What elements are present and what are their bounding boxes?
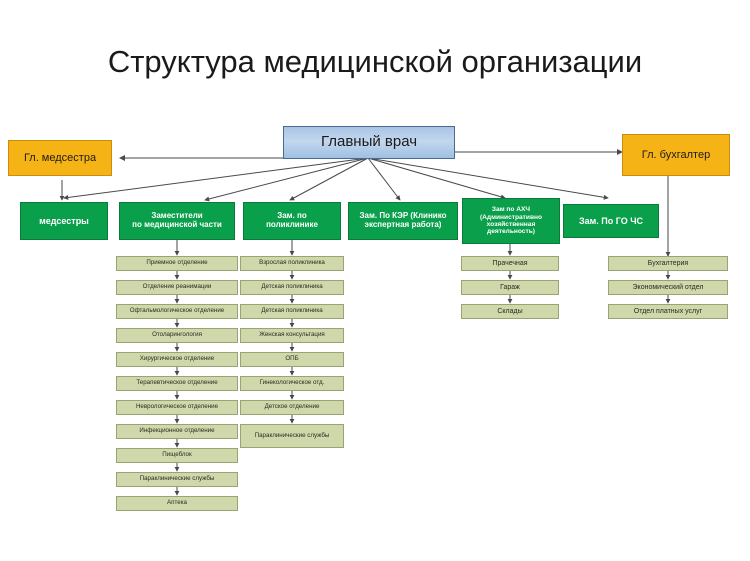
node-label: медсестры: [39, 216, 89, 226]
node-label: Детская поликлиника: [261, 308, 322, 315]
node-label: Главный врач: [321, 134, 417, 151]
node-label: ОПБ: [285, 356, 298, 363]
node-label: Хирургическое отделение: [140, 356, 214, 363]
node-label-line2: поликлинике: [266, 221, 318, 230]
leaf-accounting-3[interactable]: Отдел платных услуг: [608, 304, 728, 319]
node-chief-accountant[interactable]: Гл. бухгалтер: [622, 134, 730, 176]
node-label-line2: по медицинской части: [132, 221, 222, 230]
leaf-polyclinic-8[interactable]: Параклинические службы: [240, 424, 344, 448]
leaf-medical-4[interactable]: Отоларингология: [116, 328, 238, 343]
node-label: Бухгалтерия: [648, 260, 688, 268]
leaf-polyclinic-4[interactable]: Женская консультация: [240, 328, 344, 343]
node-label: Взрослая поликлиника: [259, 260, 325, 267]
leaf-polyclinic-7[interactable]: Детское отделение: [240, 400, 344, 415]
leaf-polyclinic-2[interactable]: Детская поликлиника: [240, 280, 344, 295]
leaf-medical-8[interactable]: Инфекционное отделение: [116, 424, 238, 439]
leaf-ahch-3[interactable]: Склады: [461, 304, 559, 319]
node-head-ker[interactable]: Зам. По КЭР (Клинико экспертная работа): [348, 202, 458, 240]
leaf-polyclinic-3[interactable]: Детская поликлиника: [240, 304, 344, 319]
node-label: Параклинические службы: [140, 476, 215, 483]
node-label-line4: деятельность): [487, 228, 535, 235]
node-label: Прачечная: [492, 260, 527, 268]
node-label: Детская поликлиника: [261, 284, 322, 291]
node-label-line3: хозяйственная: [487, 221, 536, 228]
node-head-nurses[interactable]: медсестры: [20, 202, 108, 240]
leaf-medical-3[interactable]: Офтальмологическое отделение: [116, 304, 238, 319]
leaf-polyclinic-5[interactable]: ОПБ: [240, 352, 344, 367]
node-label: Отделение реанимации: [143, 284, 212, 291]
node-label: Гл. медсестра: [24, 152, 96, 164]
leaf-medical-7[interactable]: Неврологическое отделение: [116, 400, 238, 415]
node-head-go-chs[interactable]: Зам. По ГО ЧС: [563, 204, 659, 238]
node-label: Пищеблок: [162, 452, 191, 459]
node-chief-physician[interactable]: Главный врач: [283, 126, 455, 159]
node-label: Детское отделение: [265, 404, 320, 411]
node-label: Женская консультация: [259, 332, 325, 339]
node-head-ahch[interactable]: Зам по АХЧ (Административно хозяйственна…: [462, 198, 560, 244]
node-label: Гараж: [500, 284, 520, 292]
node-label: Гинекологическое отд.: [260, 380, 325, 387]
node-label: Приемное отделение: [146, 260, 207, 267]
leaf-medical-10[interactable]: Параклинические службы: [116, 472, 238, 487]
node-label: Отоларингология: [152, 332, 202, 339]
node-head-medical-deputies[interactable]: Заместители по медицинской части: [119, 202, 235, 240]
node-head-polyclinic[interactable]: Зам. по поликлинике: [243, 202, 341, 240]
leaf-medical-5[interactable]: Хирургическое отделение: [116, 352, 238, 367]
node-chief-nurse[interactable]: Гл. медсестра: [8, 140, 112, 176]
page-title: Структура медицинской организации: [0, 44, 750, 80]
leaf-ahch-1[interactable]: Прачечная: [461, 256, 559, 271]
node-label: Инфекционное отделение: [139, 428, 214, 435]
node-label-line1: Зам по АХЧ: [492, 206, 530, 213]
leaf-accounting-2[interactable]: Экономический отдел: [608, 280, 728, 295]
node-label-line2: (Административно: [480, 214, 542, 221]
leaf-medical-1[interactable]: Приемное отделение: [116, 256, 238, 271]
leaf-medical-2[interactable]: Отделение реанимации: [116, 280, 238, 295]
node-label: Аптека: [167, 500, 187, 507]
node-label: Зам. По ГО ЧС: [579, 216, 643, 226]
node-label: Экономический отдел: [633, 284, 704, 292]
leaf-medical-6[interactable]: Терапевтическое отделение: [116, 376, 238, 391]
leaf-polyclinic-1[interactable]: Взрослая поликлиника: [240, 256, 344, 271]
node-label: Офтальмологическое отделение: [130, 308, 224, 315]
node-label: Терапевтическое отделение: [136, 380, 217, 387]
node-label: Склады: [497, 308, 522, 316]
diagram-canvas: Структура медицинской организации: [0, 0, 750, 561]
leaf-accounting-1[interactable]: Бухгалтерия: [608, 256, 728, 271]
node-label: Отдел платных услуг: [634, 308, 702, 316]
leaf-medical-9[interactable]: Пищеблок: [116, 448, 238, 463]
leaf-polyclinic-6[interactable]: Гинекологическое отд.: [240, 376, 344, 391]
node-label: Параклинические службы: [255, 433, 330, 440]
leaf-medical-11[interactable]: Аптека: [116, 496, 238, 511]
node-label: Гл. бухгалтер: [642, 149, 710, 161]
leaf-ahch-2[interactable]: Гараж: [461, 280, 559, 295]
node-label: Неврологическое отделение: [136, 404, 218, 411]
node-label-line2: экспертная работа): [365, 221, 442, 230]
